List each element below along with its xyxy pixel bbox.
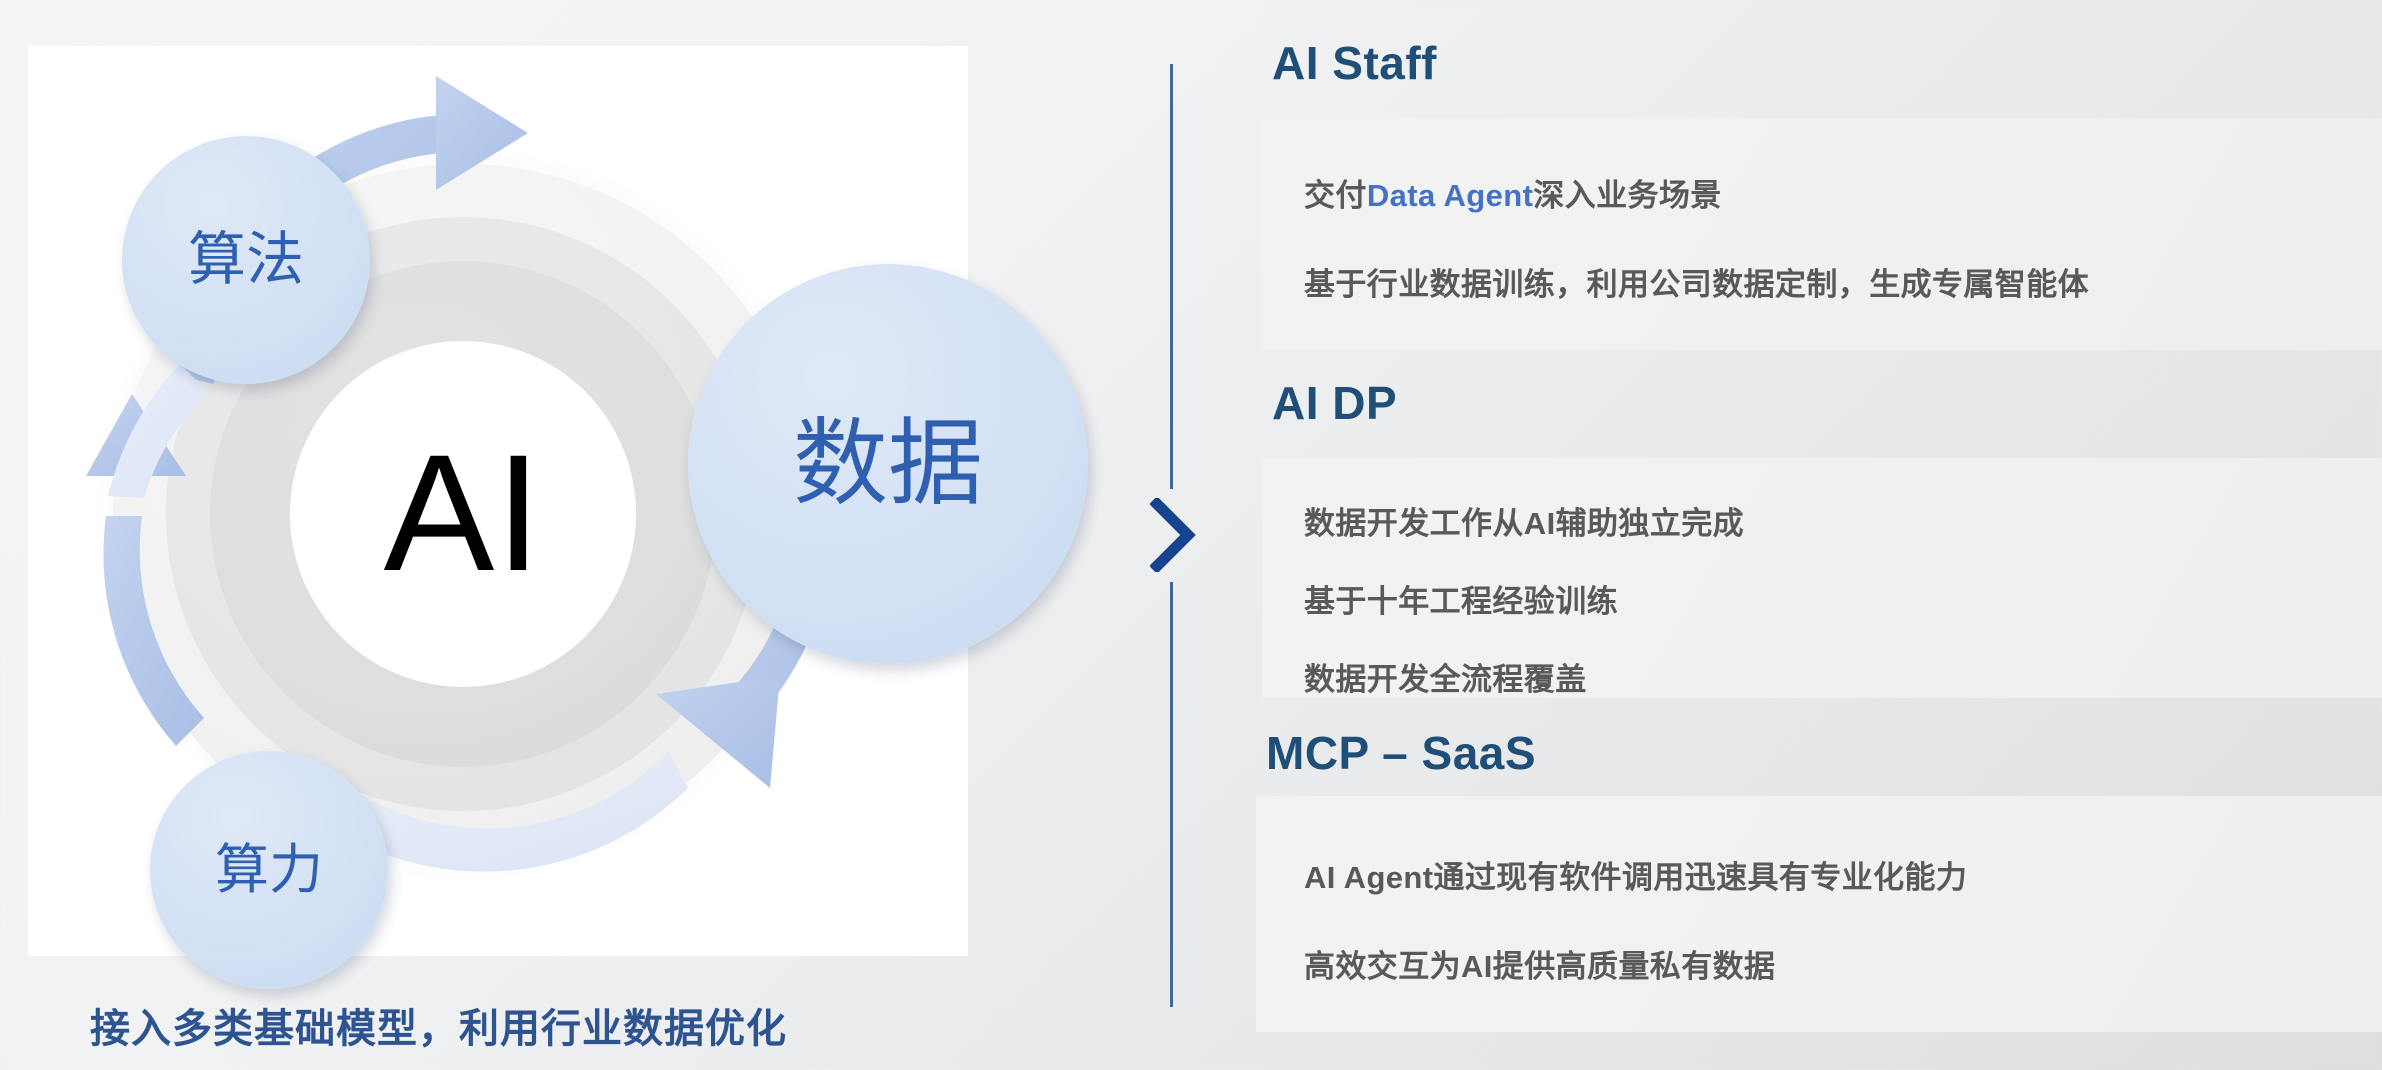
section-ai-staff-bullets: 交付Data Agent深入业务场景 基于行业数据训练，利用公司数据定制，生成专… — [1304, 170, 2089, 304]
section-mcp-saas-bullets: AI Agent通过现有软件调用迅速具有专业化能力 高效交互为AI提供高质量私有… — [1304, 852, 1967, 986]
bullet-item: 基于十年工程经验训练 — [1304, 576, 1744, 621]
diagram-caption: 接入多类基础模型，利用行业数据优化 — [90, 996, 787, 1054]
bubble-compute-label: 算力 — [215, 843, 323, 897]
diagram-canvas: AI 算法 数据 算力 — [28, 46, 968, 956]
section-ai-dp: AI DP 数据开发工作从AI辅助独立完成 基于十年工程经验训练 数据开发全流程… — [1230, 376, 2382, 716]
section-ai-staff: AI Staff 交付Data Agent深入业务场景 基于行业数据训练，利用公… — [1230, 0, 2382, 430]
bullet-item: 高效交互为AI提供高质量私有数据 — [1304, 941, 1967, 986]
bullet-item: 数据开发全流程覆盖 — [1304, 654, 1744, 699]
bullet-item: 基于行业数据训练，利用公司数据定制，生成专属智能体 — [1304, 259, 2089, 304]
bullet-text: 基于行业数据训练，利用公司数据定制，生成专属智能体 — [1304, 267, 2089, 302]
bubble-algorithm-label: 算法 — [188, 231, 304, 289]
chevron-right-icon — [1150, 498, 1196, 572]
section-ai-staff-title: AI Staff — [1272, 36, 1437, 90]
bullet-item: AI Agent通过现有软件调用迅速具有专业化能力 — [1304, 852, 1967, 897]
bubble-data-label: 数据 — [793, 417, 983, 512]
bullet-accent-text: Data Agent — [1367, 178, 1533, 213]
bullet-text: 数据开发工作从AI辅助独立完成 — [1304, 506, 1744, 541]
ai-core-label: AI — [290, 341, 636, 687]
bullet-text: 数据开发全流程覆盖 — [1304, 662, 1587, 697]
section-mcp-saas-title: MCP – SaaS — [1266, 726, 1536, 780]
bubble-data[interactable]: 数据 — [688, 264, 1088, 664]
bullet-text: 基于十年工程经验训练 — [1304, 584, 1618, 619]
bubble-algorithm[interactable]: 算法 — [122, 136, 370, 384]
bullet-text: 深入业务场景 — [1533, 178, 1721, 213]
divider-line-lower — [1170, 582, 1173, 1007]
bubble-compute[interactable]: 算力 — [150, 751, 388, 989]
bullet-text: AI Agent通过现有软件调用迅速具有专业化能力 — [1304, 860, 1967, 895]
bullet-item: 交付Data Agent深入业务场景 — [1304, 170, 2089, 215]
section-ai-dp-bullets: 数据开发工作从AI辅助独立完成 基于十年工程经验训练 数据开发全流程覆盖 — [1304, 498, 1744, 732]
ai-cycle-diagram-pane: AI 算法 数据 算力 接入多类基础模型，利用行业数据优化 — [0, 0, 1120, 1070]
bullet-text: 交付 — [1304, 178, 1367, 213]
divider-line-upper — [1170, 64, 1173, 489]
section-ai-dp-title: AI DP — [1272, 376, 1397, 430]
bullet-item: 数据开发工作从AI辅助独立完成 — [1304, 498, 1744, 543]
section-mcp-saas: MCP – SaaS AI Agent通过现有软件调用迅速具有专业化能力 高效交… — [1230, 712, 2382, 1070]
sections-pane: AI Staff 交付Data Agent深入业务场景 基于行业数据训练，利用公… — [1230, 0, 2382, 1070]
bullet-text: 高效交互为AI提供高质量私有数据 — [1304, 949, 1775, 984]
